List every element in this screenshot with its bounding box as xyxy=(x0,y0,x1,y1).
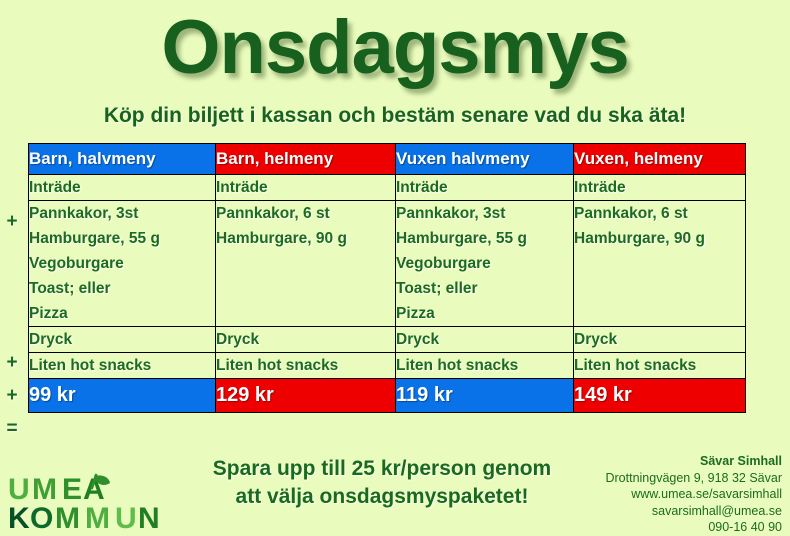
cell-entry-barn-hel: Inträde xyxy=(216,175,396,201)
cell-line: Vegoburgare xyxy=(396,251,573,276)
cell-line: Hamburgare, 55 g xyxy=(396,226,573,251)
cell-food-barn-halv: Pannkakor, 3st Hamburgare, 55 g Vegoburg… xyxy=(29,201,216,327)
cell-snacks-vuxen-halv: Liten hot snacks xyxy=(396,353,574,379)
menu-table: Barn, halvmeny Barn, helmeny Vuxen halvm… xyxy=(28,143,746,413)
operator-total: = xyxy=(0,418,24,440)
logo-letter-K: K xyxy=(8,502,30,532)
cell-line: Hamburgare, 55 g xyxy=(29,226,215,251)
cell-snacks-barn-hel: Liten hot snacks xyxy=(216,353,396,379)
cell-line: Pannkakor, 6 st xyxy=(574,201,745,226)
venue-phone: 090-16 40 90 xyxy=(552,519,782,536)
cell-line: Hamburgare, 90 g xyxy=(216,226,395,251)
cell-line: Hamburgare, 90 g xyxy=(574,226,745,251)
logo-letter-O: O xyxy=(30,502,54,532)
cell-drink-vuxen-halv: Dryck xyxy=(396,327,574,353)
promo-line-1: Spara upp till 25 kr/person genom xyxy=(176,455,588,483)
cell-line: Liten hot snacks xyxy=(29,353,215,378)
table-row: Pannkakor, 3st Hamburgare, 55 g Vegoburg… xyxy=(29,201,746,327)
cell-food-vuxen-halv: Pannkakor, 3st Hamburgare, 55 g Vegoburg… xyxy=(396,201,574,327)
cell-line: Inträde xyxy=(216,175,395,200)
table-row: Dryck Dryck Dryck Dryck xyxy=(29,327,746,353)
cell-food-vuxen-hel: Pannkakor, 6 st Hamburgare, 90 g xyxy=(574,201,746,327)
cell-line: Dryck xyxy=(396,327,573,352)
logo-letter-M1: M xyxy=(55,502,81,532)
cell-entry-barn-halv: Inträde xyxy=(29,175,216,201)
cell-line: Pizza xyxy=(29,301,215,326)
table-row: Inträde Inträde Inträde Inträde xyxy=(29,175,746,201)
venue-address: Drottningvägen 9, 918 32 Sävar xyxy=(552,470,782,487)
logo-letter-U2: U xyxy=(115,502,137,532)
column-header-barn-helmeny[interactable]: Barn, helmeny xyxy=(216,144,396,175)
logo-letter-M2: M xyxy=(85,502,111,532)
price-barn-halvmeny: 99 kr xyxy=(29,379,216,413)
page-title: Onsdagsmys xyxy=(0,2,790,94)
menu-table-wrapper: Barn, halvmeny Barn, helmeny Vuxen halvm… xyxy=(0,143,790,413)
cell-line: Dryck xyxy=(574,327,745,352)
cell-line: Inträde xyxy=(574,175,745,200)
column-header-vuxen-halvmeny[interactable]: Vuxen halvmeny xyxy=(396,144,574,175)
umea-kommun-logo: U M E A K O M M U N xyxy=(6,472,176,532)
cell-line: Vegoburgare xyxy=(29,251,215,276)
table-price-row: 99 kr 129 kr 119 kr 149 kr xyxy=(29,379,746,413)
promo-text: Spara upp till 25 kr/person genom att vä… xyxy=(176,455,588,511)
cell-drink-barn-hel: Dryck xyxy=(216,327,396,353)
cell-drink-barn-halv: Dryck xyxy=(29,327,216,353)
cell-line: Toast; eller xyxy=(29,276,215,301)
cell-line: Pannkakor, 6 st xyxy=(216,201,395,226)
page-subtitle: Köp din biljett i kassan och bestäm sena… xyxy=(0,103,790,129)
poster-root: Onsdagsmys Köp din biljett i kassan och … xyxy=(0,0,790,536)
umea-kommun-logo-svg: U M E A K O M M U N xyxy=(6,472,176,532)
column-header-vuxen-helmeny[interactable]: Vuxen, helmeny xyxy=(574,144,746,175)
cell-line: Dryck xyxy=(29,327,215,352)
cell-line: Liten hot snacks xyxy=(396,353,573,378)
cell-line: Pizza xyxy=(396,301,573,326)
price-barn-helmeny: 129 kr xyxy=(216,379,396,413)
cell-line: Dryck xyxy=(216,327,395,352)
cell-food-barn-hel: Pannkakor, 6 st Hamburgare, 90 g xyxy=(216,201,396,327)
price-vuxen-helmeny: 149 kr xyxy=(574,379,746,413)
cell-snacks-vuxen-hel: Liten hot snacks xyxy=(574,353,746,379)
table-row: Liten hot snacks Liten hot snacks Liten … xyxy=(29,353,746,379)
column-header-barn-halvmeny[interactable]: Barn, halvmeny xyxy=(29,144,216,175)
venue-email[interactable]: savarsimhall@umea.se xyxy=(552,503,782,520)
cell-line: Inträde xyxy=(396,175,573,200)
cell-entry-vuxen-hel: Inträde xyxy=(574,175,746,201)
cell-snacks-barn-halv: Liten hot snacks xyxy=(29,353,216,379)
contact-block: Sävar Simhall Drottningvägen 9, 918 32 S… xyxy=(552,453,782,536)
cell-line: Toast; eller xyxy=(396,276,573,301)
cell-line: Pannkakor, 3st xyxy=(29,201,215,226)
cell-line: Liten hot snacks xyxy=(216,353,395,378)
cell-drink-vuxen-hel: Dryck xyxy=(574,327,746,353)
venue-website[interactable]: www.umea.se/savarsimhall xyxy=(552,486,782,503)
price-vuxen-halvmeny: 119 kr xyxy=(396,379,574,413)
cell-entry-vuxen-halv: Inträde xyxy=(396,175,574,201)
promo-line-2: att välja onsdagsmyspaketet! xyxy=(176,483,588,511)
logo-letter-N: N xyxy=(138,502,160,532)
venue-name: Sävar Simhall xyxy=(552,453,782,470)
cell-line: Inträde xyxy=(29,175,215,200)
cell-line: Liten hot snacks xyxy=(574,353,745,378)
table-header-row: Barn, halvmeny Barn, helmeny Vuxen halvm… xyxy=(29,144,746,175)
cell-line: Pannkakor, 3st xyxy=(396,201,573,226)
